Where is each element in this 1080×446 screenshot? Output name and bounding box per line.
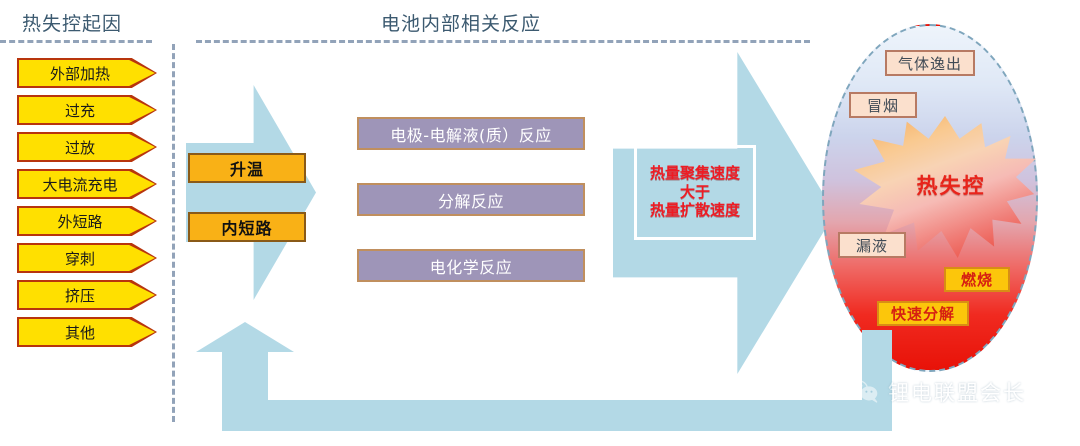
cause-chevron: 过放: [17, 132, 157, 162]
heat-balance-line-2: 大于: [680, 184, 710, 202]
outcome-tag-combustion: 燃烧: [944, 267, 1010, 292]
heat-balance-line-1: 热量聚集速度: [650, 165, 740, 183]
dashed-rule-left: [0, 40, 152, 43]
wechat-icon: [846, 377, 880, 407]
cause-chevron: 过充: [17, 95, 157, 125]
cause-label: 过充: [65, 100, 95, 121]
dashed-divider-vertical: [172, 44, 175, 422]
cause-chevron: 穿刺: [17, 243, 157, 273]
heat-balance-line-3: 热量扩散速度: [650, 202, 740, 220]
section-title-reactions: 电池内部相关反应: [381, 9, 541, 36]
cause-label: 其他: [65, 322, 95, 343]
heat-balance-text-frame: 热量聚集速度 大于 热量扩散速度: [634, 145, 756, 240]
reaction-box-electrode-electrolyte: 电极-电解液(质）反应: [357, 117, 585, 150]
cause-chevron: 外部加热: [17, 58, 157, 88]
outcome-tag-smoke: 冒烟: [849, 92, 917, 118]
cause-chevron: 大电流充电: [17, 169, 157, 199]
reaction-box-electrochemical: 电化学反应: [357, 249, 585, 282]
cause-label: 外部加热: [50, 63, 110, 84]
cause-chevron: 挤压: [17, 280, 157, 310]
trigger-arrow: [186, 85, 316, 300]
cause-label: 挤压: [65, 285, 95, 306]
outcome-tag-rapid-decomposition: 快速分解: [877, 301, 969, 326]
outcome-tag-leakage: 漏液: [838, 232, 906, 258]
cause-label: 外短路: [57, 211, 102, 232]
watermark-text: 锂电联盟会长: [888, 377, 1026, 407]
feedback-loop-arrowhead: [196, 322, 294, 352]
trigger-tag-internal-short: 内短路: [188, 212, 306, 242]
section-title-causes: 热失控起因: [22, 9, 122, 36]
cause-label: 大电流充电: [42, 174, 117, 195]
reaction-box-decomposition: 分解反应: [357, 183, 585, 216]
cause-chevron: 其他: [17, 317, 157, 347]
thermal-runaway-diagram: 热失控起因 电池内部相关反应 外部加热 过充 过放 大电流充电 外短路: [0, 0, 1080, 446]
watermark: 锂电联盟会长: [846, 377, 1026, 407]
cause-label: 过放: [65, 137, 95, 158]
feedback-loop-stem: [222, 345, 268, 403]
causes-list: 外部加热 过充 过放 大电流充电 外短路 穿刺: [17, 58, 157, 354]
cause-label: 穿刺: [65, 248, 95, 269]
trigger-tag-temperature-rise: 升温: [188, 153, 306, 183]
thermal-runaway-label: 热失控: [917, 170, 986, 200]
outcome-tag-gas-release: 气体逸出: [885, 50, 975, 76]
feedback-loop-bar: [222, 400, 892, 431]
cause-chevron: 外短路: [17, 206, 157, 236]
dashed-rule-right: [196, 40, 810, 43]
